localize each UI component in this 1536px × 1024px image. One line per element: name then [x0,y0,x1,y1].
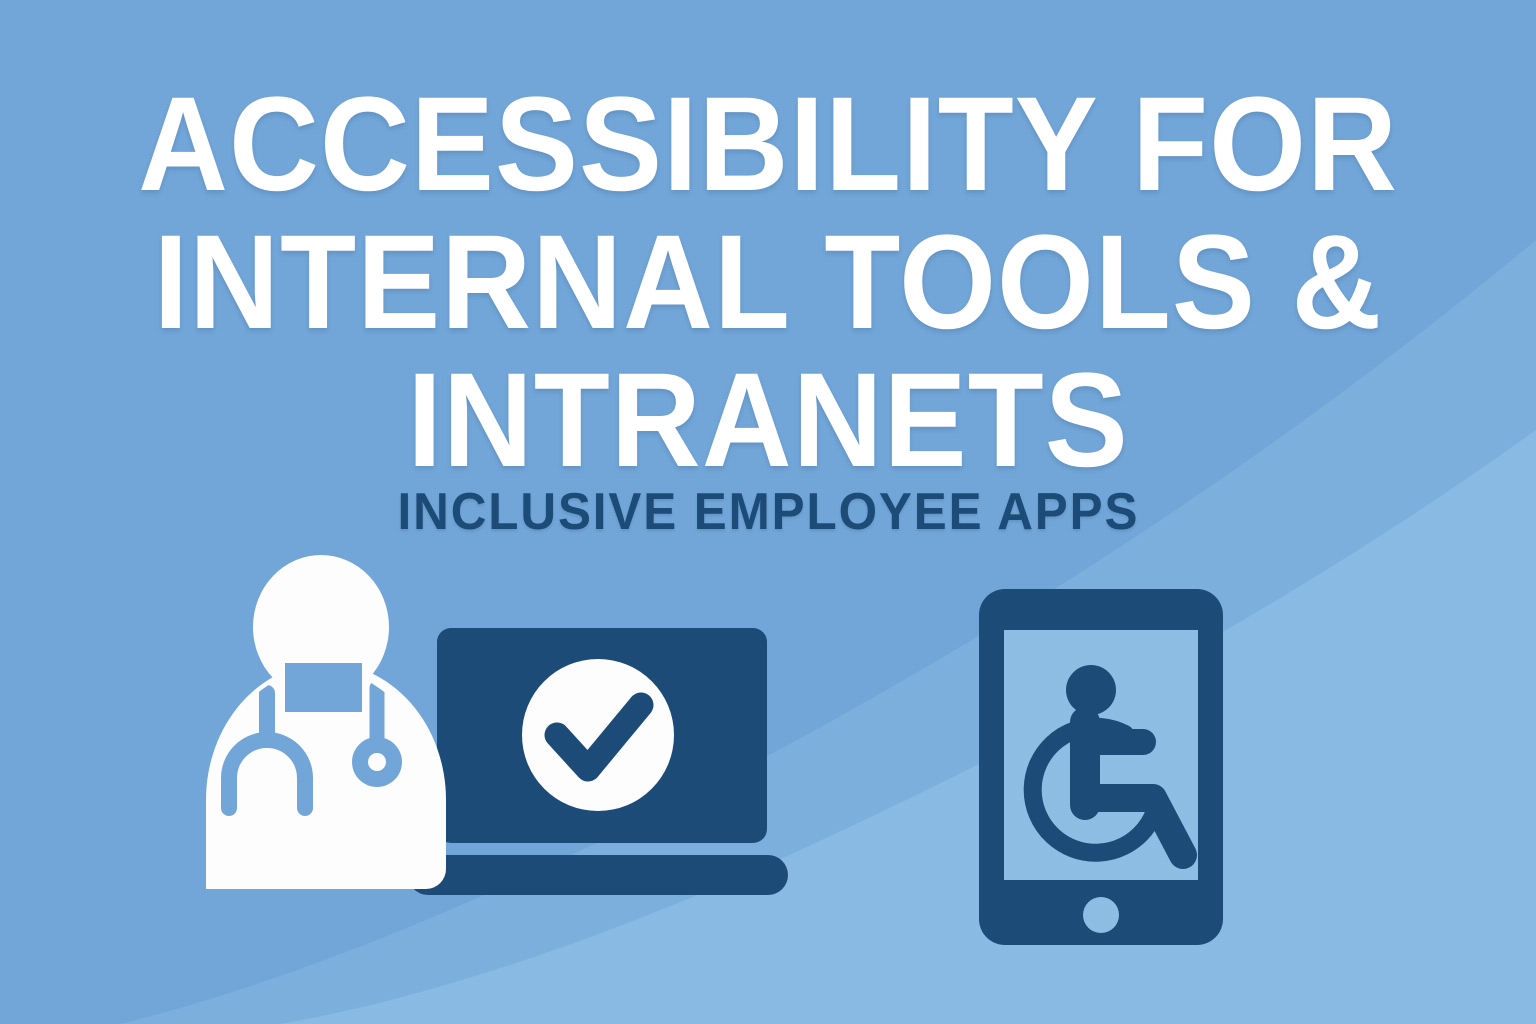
illustration-group [0,0,1536,1024]
laptop-base [408,855,788,895]
laptop-icon [408,628,788,895]
wheelchair-head [1066,665,1116,715]
doctor-icon [206,555,446,889]
tablet-icon [979,589,1223,945]
tablet-home-button [1083,897,1119,933]
stethoscope-chestpiece-center [368,753,386,771]
doctor-collar [285,663,362,712]
poster-canvas: ACCESSIBILITY FOR INTERNAL TOOLS & INTRA… [0,0,1536,1024]
